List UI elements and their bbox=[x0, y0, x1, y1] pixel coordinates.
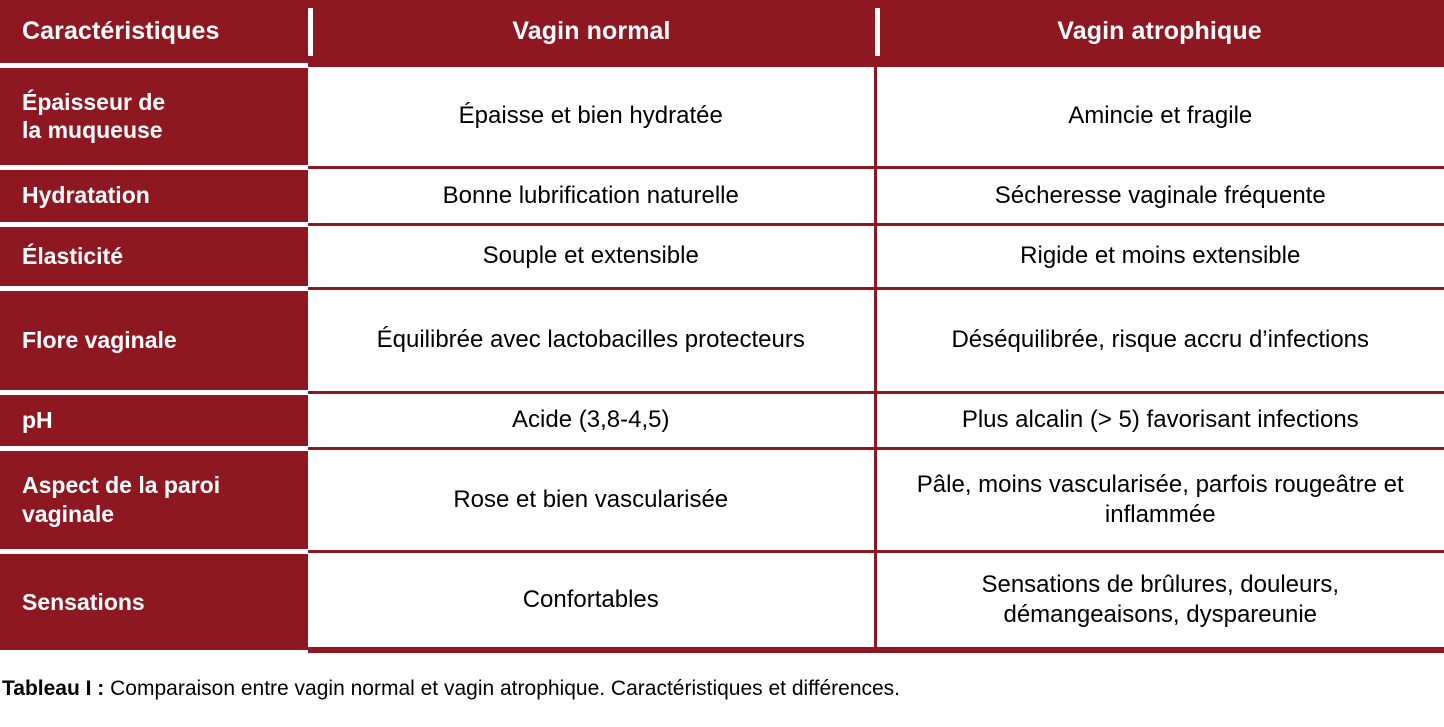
row-value-atrophique: Pâle, moins vascularisée, parfois rougeâ… bbox=[875, 448, 1444, 551]
feature-line-2: la muqueuse bbox=[22, 117, 163, 143]
table-body: Épaisseur de la muqueuse Épaisse et bien… bbox=[0, 65, 1444, 650]
row-value-atrophique: Rigide et moins extensible bbox=[875, 224, 1444, 288]
table-row: Sensations Confortables Sensations de br… bbox=[0, 551, 1444, 650]
table-figure-page: Caractéristiques Vagin normal Vagin atro… bbox=[0, 0, 1444, 727]
table-row: Épaisseur de la muqueuse Épaisse et bien… bbox=[0, 65, 1444, 167]
comparison-table: Caractéristiques Vagin normal Vagin atro… bbox=[0, 0, 1444, 653]
feature-line-2: vaginale bbox=[22, 501, 114, 527]
row-value-normal: Épaisse et bien hydratée bbox=[308, 65, 875, 167]
row-value-normal: Confortables bbox=[308, 551, 875, 650]
caption-label: Tableau I : bbox=[2, 677, 104, 700]
row-value-normal: Équilibrée avec lactobacilles protecteur… bbox=[308, 288, 875, 392]
column-header-vagin-atrophique: Vagin atrophique bbox=[875, 0, 1444, 65]
column-header-caracteristiques: Caractéristiques bbox=[0, 0, 308, 65]
column-header-vagin-normal: Vagin normal bbox=[308, 0, 875, 65]
row-value-atrophique: Amincie et fragile bbox=[875, 65, 1444, 167]
row-feature-label: Aspect de la paroi vaginale bbox=[0, 448, 308, 551]
table-row: pH Acide (3,8-4,5) Plus alcalin (> 5) fa… bbox=[0, 392, 1444, 448]
row-value-atrophique: Plus alcalin (> 5) favorisant infections bbox=[875, 392, 1444, 448]
row-feature-label: Hydratation bbox=[0, 167, 308, 224]
header-row: Caractéristiques Vagin normal Vagin atro… bbox=[0, 0, 1444, 65]
row-value-normal: Souple et extensible bbox=[308, 224, 875, 288]
table-header: Caractéristiques Vagin normal Vagin atro… bbox=[0, 0, 1444, 65]
row-value-normal: Bonne lubrification naturelle bbox=[308, 167, 875, 224]
row-value-normal: Acide (3,8-4,5) bbox=[308, 392, 875, 448]
row-value-atrophique: Sécheresse vaginale fréquente bbox=[875, 167, 1444, 224]
feature-line-1: Aspect de la paroi bbox=[22, 472, 220, 498]
row-feature-label: Élasticité bbox=[0, 224, 308, 288]
row-value-atrophique: Sensations de brûlures, douleurs, démang… bbox=[875, 551, 1444, 650]
row-feature-label: Sensations bbox=[0, 551, 308, 650]
row-feature-label: Flore vaginale bbox=[0, 288, 308, 392]
row-feature-label: pH bbox=[0, 392, 308, 448]
table-caption: Tableau I : Comparaison entre vagin norm… bbox=[2, 676, 1442, 702]
table-row: Flore vaginale Équilibrée avec lactobaci… bbox=[0, 288, 1444, 392]
table-row: Élasticité Souple et extensible Rigide e… bbox=[0, 224, 1444, 288]
feature-line-1: Épaisseur de bbox=[22, 89, 165, 115]
row-value-normal: Rose et bien vascularisée bbox=[308, 448, 875, 551]
caption-text: Comparaison entre vagin normal et vagin … bbox=[104, 677, 900, 700]
table-row: Aspect de la paroi vaginale Rose et bien… bbox=[0, 448, 1444, 551]
row-feature-label: Épaisseur de la muqueuse bbox=[0, 65, 308, 167]
row-value-atrophique: Déséquilibrée, risque accru d’infections bbox=[875, 288, 1444, 392]
table-row: Hydratation Bonne lubrification naturell… bbox=[0, 167, 1444, 224]
